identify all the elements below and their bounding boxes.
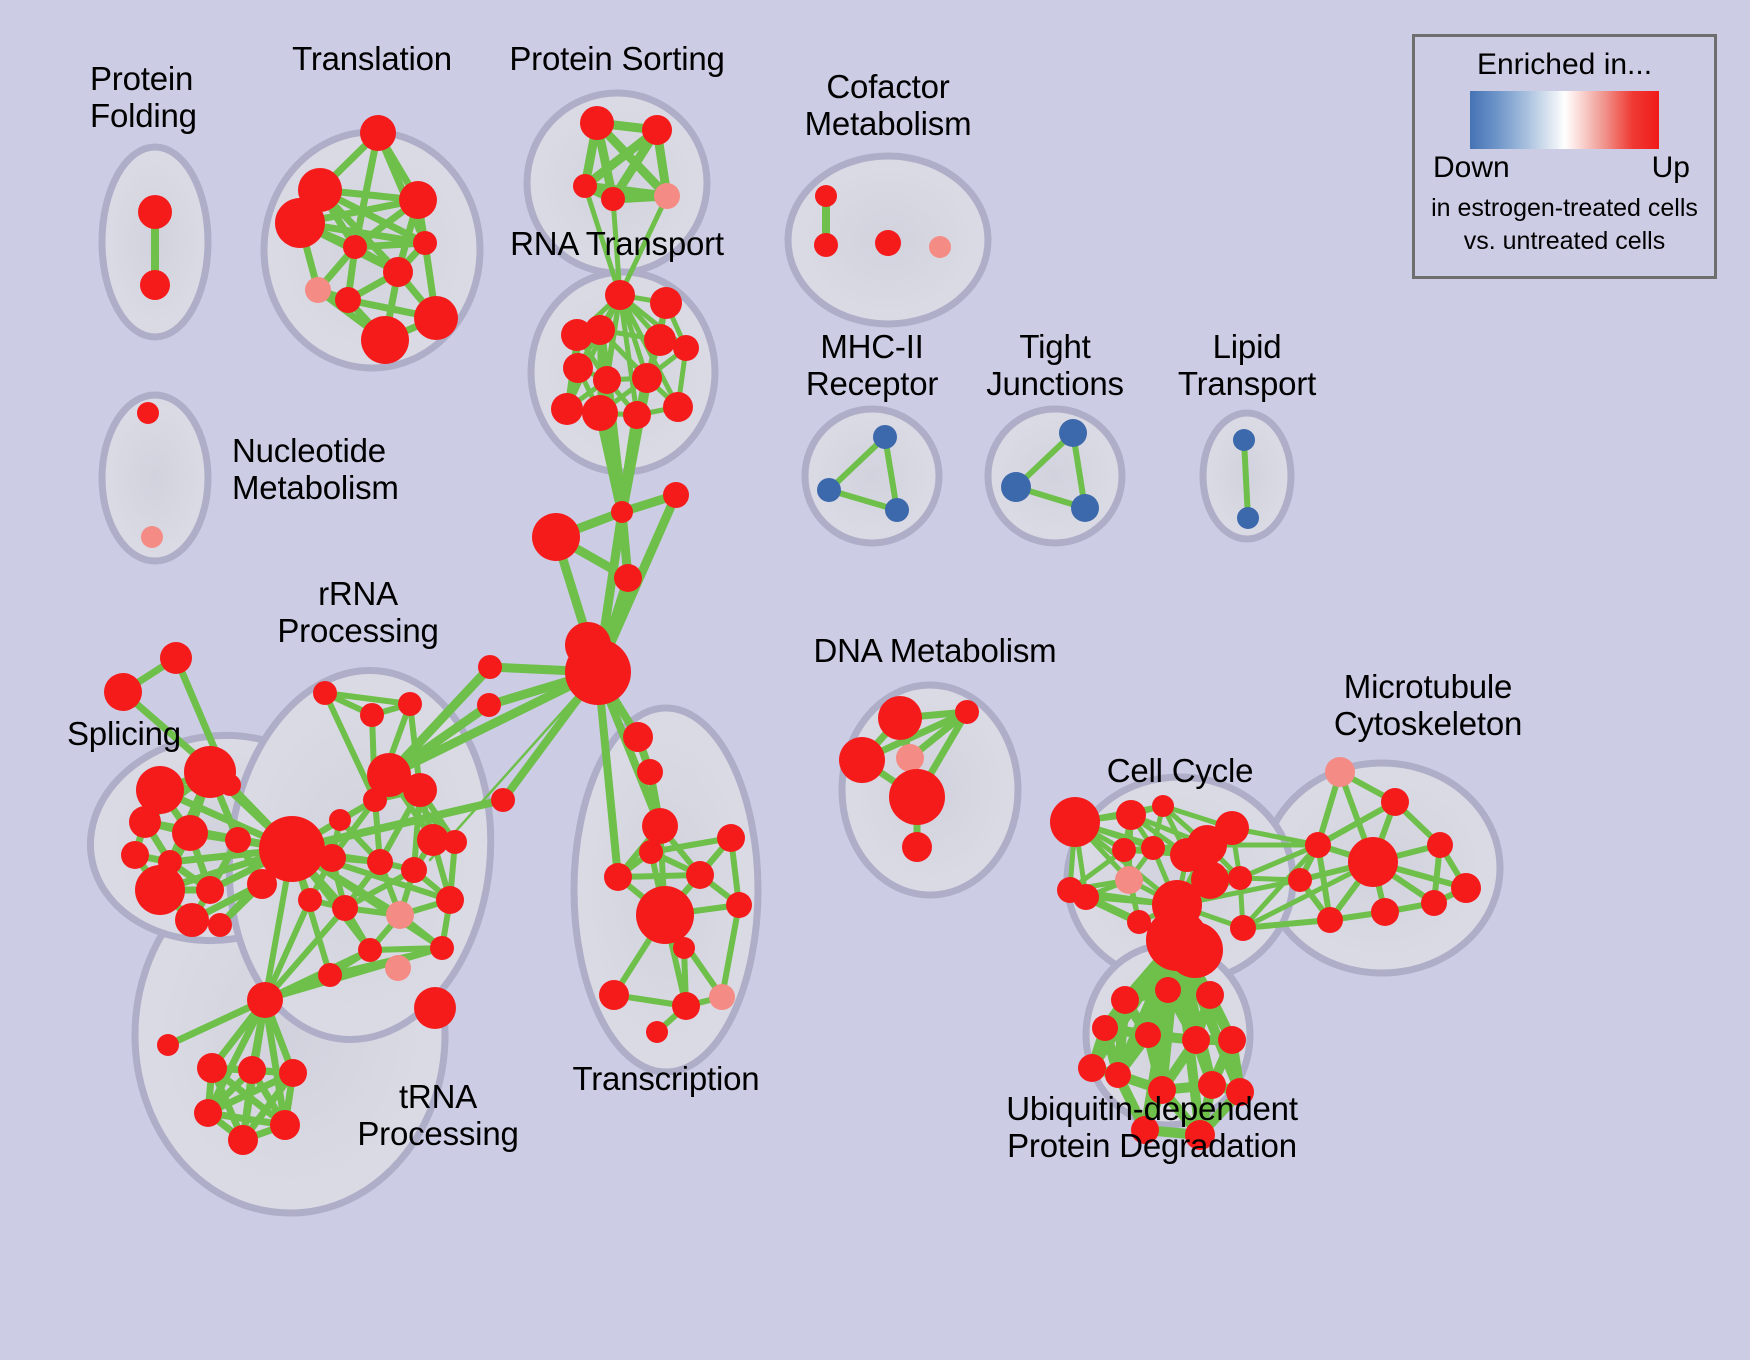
node [197, 1053, 227, 1083]
node [614, 564, 642, 592]
node [318, 963, 342, 987]
node [1196, 981, 1224, 1009]
node [1115, 866, 1143, 894]
node [478, 655, 502, 679]
node [104, 673, 142, 711]
node [1092, 1015, 1118, 1041]
node [815, 185, 837, 207]
legend-down-label: Down [1433, 151, 1510, 185]
node [477, 693, 501, 717]
node [1127, 910, 1151, 934]
node [1230, 915, 1256, 941]
node [636, 886, 694, 944]
node [279, 1059, 307, 1087]
node [1371, 898, 1399, 926]
node [1111, 986, 1139, 1014]
node [1427, 832, 1453, 858]
node [1348, 837, 1398, 887]
node [275, 198, 325, 248]
node [551, 393, 583, 425]
node [298, 888, 322, 912]
node [672, 992, 700, 1020]
node [1288, 868, 1312, 892]
node [605, 280, 635, 310]
node [403, 773, 437, 807]
node [1228, 866, 1252, 890]
label-dna-metabolism: DNA Metabolism [814, 632, 1057, 669]
legend-up-label: Up [1652, 151, 1690, 185]
node [573, 174, 597, 198]
label-tight-junctions: Tight Junctions [986, 328, 1124, 402]
label-transcription: Transcription [573, 1060, 760, 1097]
node [663, 482, 689, 508]
node [228, 1125, 258, 1155]
node [663, 392, 693, 422]
label-cofactor-metabolism: Cofactor Metabolism [805, 68, 972, 142]
node [413, 231, 437, 255]
node [1381, 788, 1409, 816]
node [532, 513, 580, 561]
node [623, 401, 651, 429]
node [717, 824, 745, 852]
node [385, 955, 411, 981]
node [1218, 1026, 1246, 1054]
node [1152, 795, 1174, 817]
node [1451, 873, 1481, 903]
legend-title: Enriched in... [1415, 48, 1714, 82]
node [726, 892, 752, 918]
legend-caption-line-1: in estrogen-treated cells [1415, 193, 1714, 224]
node [646, 1021, 668, 1043]
node [650, 287, 682, 319]
node [955, 700, 979, 724]
node [401, 857, 427, 883]
label-microtubule-cytoskeleton: Microtubule Cytoskeleton [1334, 668, 1522, 742]
label-ubiquitin-degradation: Ubiquitin-dependent Protein Degradation [1006, 1090, 1298, 1164]
node [1167, 922, 1223, 978]
node [611, 501, 633, 523]
node [414, 296, 458, 340]
node [1116, 800, 1146, 830]
node [839, 737, 885, 783]
node [137, 402, 159, 424]
label-rna-transport: RNA Transport [510, 225, 724, 262]
node [383, 257, 413, 287]
node [1059, 419, 1087, 447]
node [1071, 494, 1099, 522]
label-splicing: Splicing [67, 715, 181, 752]
node [929, 236, 951, 258]
node [686, 861, 714, 889]
node [599, 980, 629, 1010]
node [430, 936, 454, 960]
legend-endpoints: Down Up [1427, 151, 1702, 191]
node [644, 324, 676, 356]
label-cell-cycle: Cell Cycle [1107, 752, 1254, 789]
node [673, 335, 699, 361]
node [360, 703, 384, 727]
label-protein-folding: Protein Folding [90, 60, 197, 134]
label-mhc-ii-receptor: MHC-II Receptor [806, 328, 938, 402]
node [1001, 472, 1031, 502]
node [817, 478, 841, 502]
legend-colorbar [1470, 91, 1659, 149]
node [361, 316, 409, 364]
node [1135, 1022, 1161, 1048]
node [582, 395, 618, 431]
node [642, 115, 672, 145]
label-trna-processing: tRNA Processing [357, 1078, 518, 1152]
node [814, 233, 838, 257]
node [238, 1056, 266, 1084]
node [436, 886, 464, 914]
label-translation: Translation [292, 40, 452, 77]
node [135, 865, 185, 915]
node [386, 901, 414, 929]
node [1155, 977, 1181, 1003]
legend-box: Enriched in... Down Up in estrogen-treat… [1412, 34, 1717, 279]
node [129, 806, 161, 838]
label-nucleotide-metabolism: Nucleotide Metabolism [232, 432, 399, 506]
node [1421, 890, 1447, 916]
node [1073, 884, 1099, 910]
node [1050, 797, 1100, 847]
node [563, 353, 593, 383]
node [184, 746, 236, 798]
node [398, 692, 422, 716]
node [247, 982, 283, 1018]
node [259, 816, 325, 882]
node [141, 526, 163, 548]
node [343, 235, 367, 259]
hull-mhc-ii [805, 409, 939, 543]
node [491, 788, 515, 812]
node [585, 315, 615, 345]
node [367, 849, 393, 875]
node [593, 366, 621, 394]
node [1233, 429, 1255, 451]
cluster-hulls [77, 93, 1500, 1213]
node [654, 183, 680, 209]
node [1191, 861, 1229, 899]
node [1141, 836, 1165, 860]
node [709, 984, 735, 1010]
node [565, 622, 611, 668]
node [157, 1034, 179, 1056]
node [875, 230, 901, 256]
node [604, 863, 632, 891]
node [623, 722, 653, 752]
legend-caption-line-2: vs. untreated cells [1415, 226, 1714, 257]
node [1078, 1054, 1106, 1082]
node [873, 425, 897, 449]
node [1325, 757, 1355, 787]
label-protein-sorting: Protein Sorting [509, 40, 724, 77]
node [632, 363, 662, 393]
node [175, 903, 209, 937]
node [878, 696, 922, 740]
node [196, 876, 224, 904]
node [1317, 907, 1343, 933]
label-lipid-transport: Lipid Transport [1178, 328, 1316, 402]
node [305, 277, 331, 303]
node [329, 809, 351, 831]
node [160, 642, 192, 674]
node [1305, 832, 1331, 858]
node [902, 832, 932, 862]
enrichment-map-figure: Protein Folding Translation Protein Sort… [0, 0, 1750, 1360]
node [673, 937, 695, 959]
node [358, 938, 382, 962]
node [1215, 811, 1249, 845]
node [208, 913, 232, 937]
node [1182, 1026, 1210, 1054]
node [194, 1099, 222, 1127]
node [414, 987, 456, 1029]
node [580, 106, 614, 140]
node [313, 681, 337, 705]
node [642, 808, 678, 844]
node [140, 270, 170, 300]
node [1112, 838, 1136, 862]
node [889, 769, 945, 825]
node [443, 830, 467, 854]
node [1105, 1062, 1131, 1088]
node [225, 827, 251, 853]
node [121, 841, 149, 869]
node [399, 181, 437, 219]
node [172, 815, 208, 851]
node [270, 1110, 300, 1140]
node [332, 895, 358, 921]
node [637, 759, 663, 785]
node [896, 744, 924, 772]
label-rrna-processing: rRNA Processing [277, 575, 438, 649]
node [335, 287, 361, 313]
node [360, 115, 396, 151]
node [1237, 507, 1259, 529]
node [138, 195, 172, 229]
node [639, 840, 663, 864]
node [601, 187, 625, 211]
node [885, 498, 909, 522]
